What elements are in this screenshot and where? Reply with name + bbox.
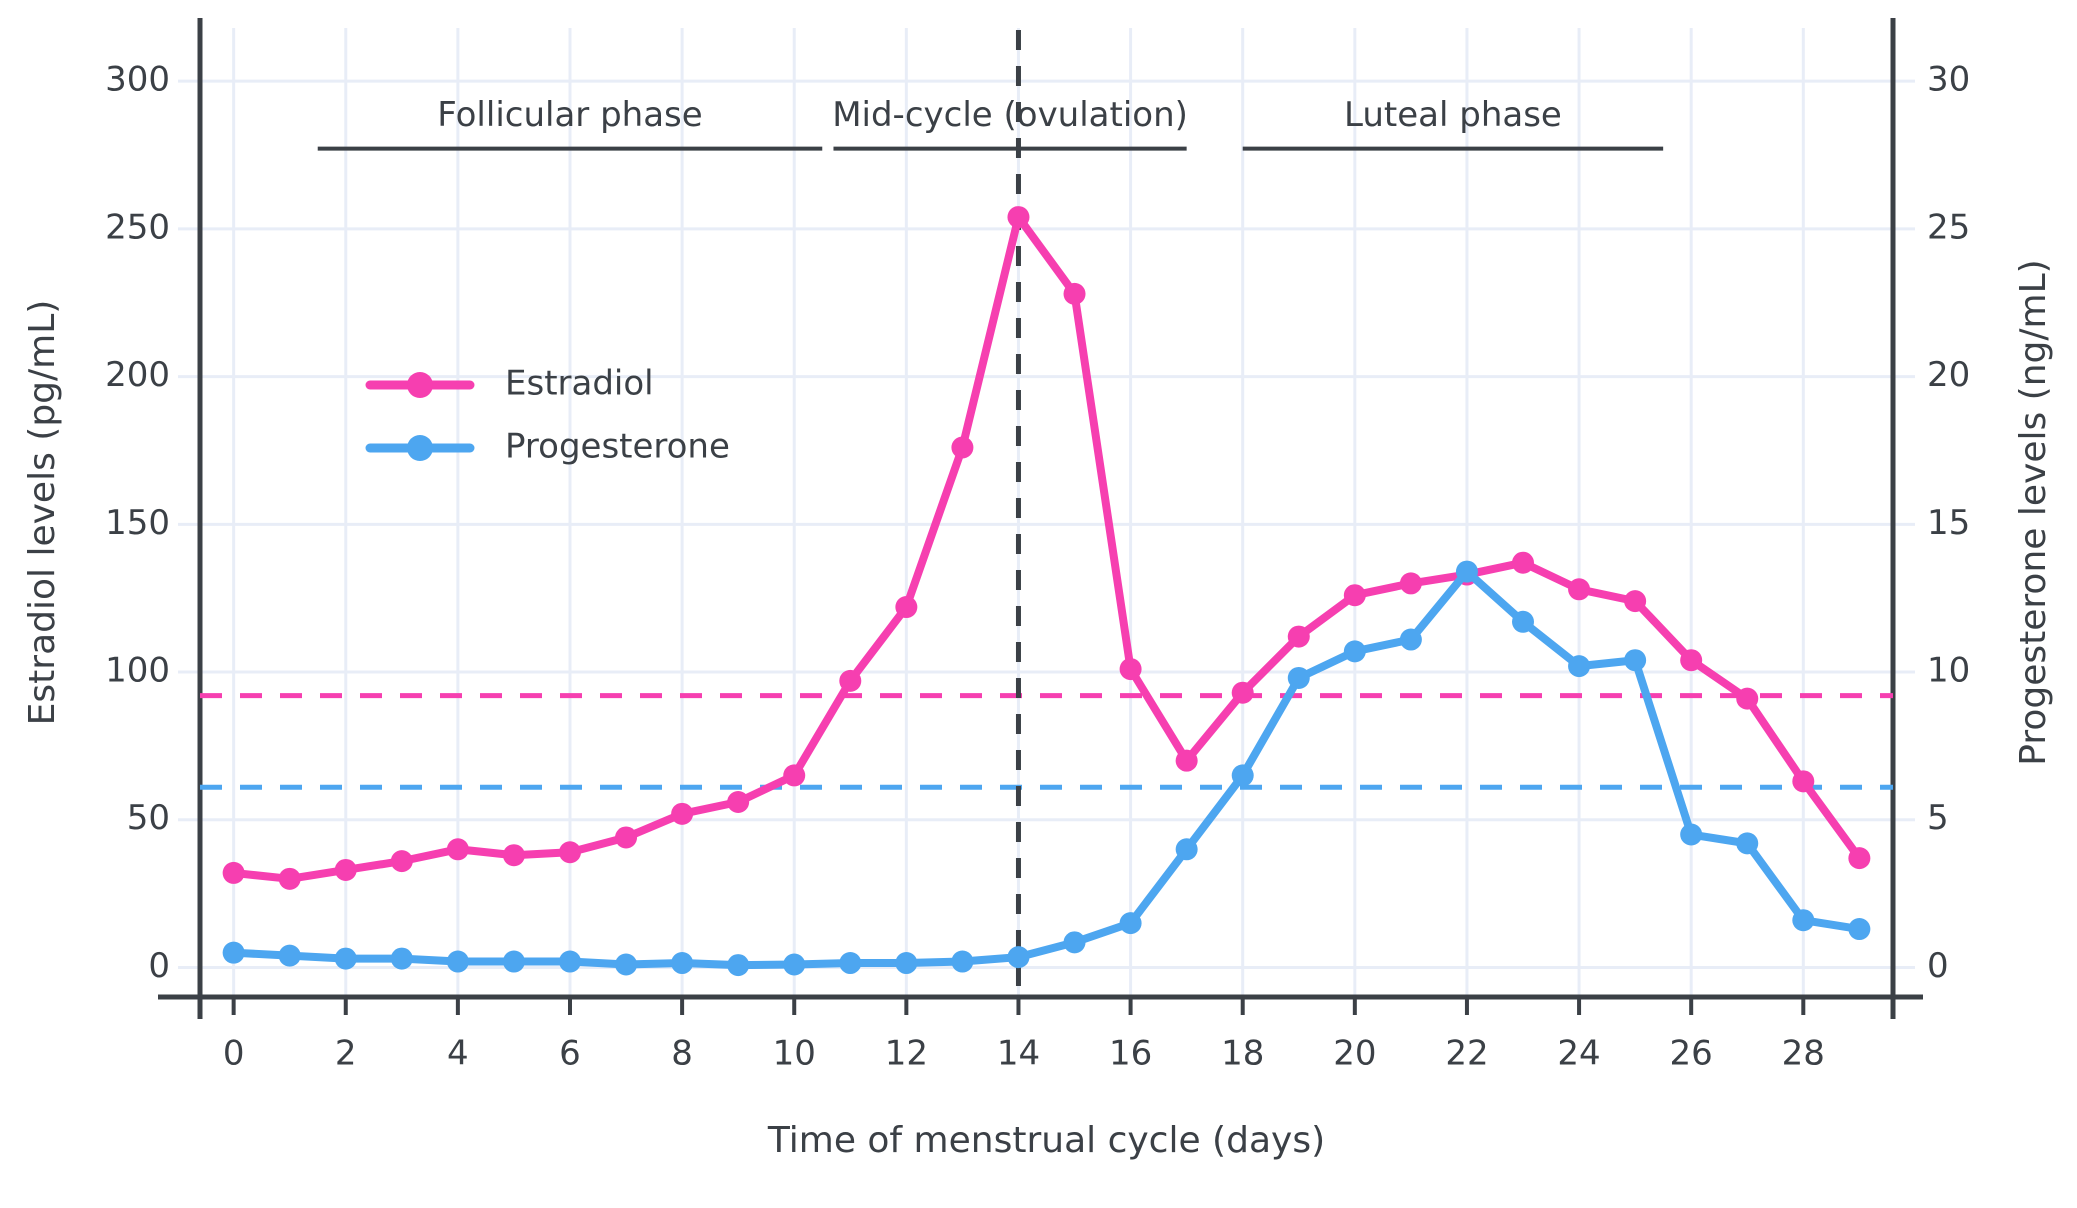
data-point-estradiol xyxy=(839,670,861,692)
y-tick-label-right: 0 xyxy=(1927,946,1949,986)
data-point-estradiol xyxy=(1064,283,1086,305)
series-line-estradiol xyxy=(234,217,1860,879)
data-point-estradiol xyxy=(559,841,581,863)
data-point-progesterone xyxy=(223,942,245,964)
data-point-estradiol xyxy=(1120,658,1142,680)
data-point-progesterone xyxy=(1792,909,1814,931)
phase-label-follicular-phase: Follicular phase xyxy=(437,95,702,135)
series-line-progesterone xyxy=(234,572,1860,966)
data-point-progesterone xyxy=(1344,640,1366,662)
data-point-estradiol xyxy=(615,826,637,848)
x-tick-label: 18 xyxy=(1221,1034,1264,1074)
data-point-estradiol xyxy=(1624,590,1646,612)
x-tick-label: 20 xyxy=(1333,1034,1376,1074)
x-tick-label: 4 xyxy=(447,1034,469,1074)
chart-figure: 0501001502002503000510152025300246810121… xyxy=(0,0,2077,1208)
data-point-estradiol xyxy=(1232,682,1254,704)
data-point-progesterone xyxy=(503,951,525,973)
phase-label-mid-cycle-ovulation: Mid-cycle (ovulation) xyxy=(832,95,1188,135)
y-tick-label-left: 200 xyxy=(105,355,170,395)
y-tick-label-right: 15 xyxy=(1927,503,1970,543)
data-point-estradiol xyxy=(1680,649,1702,671)
x-tick-label: 12 xyxy=(885,1034,928,1074)
data-point-progesterone xyxy=(1176,838,1198,860)
x-tick-label: 8 xyxy=(671,1034,693,1074)
data-point-estradiol xyxy=(1568,578,1590,600)
data-point-progesterone xyxy=(1288,667,1310,689)
data-point-estradiol xyxy=(895,596,917,618)
x-tick-label: 6 xyxy=(559,1034,581,1074)
phase-label-luteal-phase: Luteal phase xyxy=(1344,95,1562,135)
x-tick-label: 26 xyxy=(1670,1034,1713,1074)
y-tick-label-left: 150 xyxy=(105,503,170,543)
data-point-estradiol xyxy=(223,862,245,884)
x-tick-label: 2 xyxy=(335,1034,357,1074)
data-point-estradiol xyxy=(1176,750,1198,772)
y-tick-label-left: 0 xyxy=(148,946,170,986)
x-tick-label: 14 xyxy=(997,1034,1040,1074)
data-point-progesterone xyxy=(1736,832,1758,854)
x-tick-label: 24 xyxy=(1557,1034,1600,1074)
data-point-progesterone xyxy=(1456,561,1478,583)
legend-swatch-marker-estradiol xyxy=(407,372,433,398)
x-tick-label: 16 xyxy=(1109,1034,1152,1074)
data-point-progesterone xyxy=(391,948,413,970)
data-point-progesterone xyxy=(783,954,805,976)
y-tick-label-right: 25 xyxy=(1927,207,1970,247)
data-point-estradiol xyxy=(951,437,973,459)
data-point-progesterone xyxy=(335,948,357,970)
data-point-progesterone xyxy=(839,952,861,974)
data-point-progesterone xyxy=(1232,764,1254,786)
data-point-estradiol xyxy=(783,764,805,786)
data-point-progesterone xyxy=(1007,946,1029,968)
data-point-progesterone xyxy=(1400,629,1422,651)
x-tick-label: 0 xyxy=(223,1034,245,1074)
data-point-estradiol xyxy=(335,859,357,881)
data-point-progesterone xyxy=(1064,931,1086,953)
data-point-progesterone xyxy=(895,952,917,974)
data-point-estradiol xyxy=(1736,688,1758,710)
data-point-progesterone xyxy=(671,952,693,974)
data-point-estradiol xyxy=(1848,847,1870,869)
data-point-progesterone xyxy=(1624,649,1646,671)
data-point-progesterone xyxy=(1512,611,1534,633)
data-point-progesterone xyxy=(559,951,581,973)
hormone-cycle-line-chart: 0501001502002503000510152025300246810121… xyxy=(0,0,2077,1208)
x-tick-label: 22 xyxy=(1445,1034,1488,1074)
legend-label-progesterone: Progesterone xyxy=(505,427,730,467)
data-point-estradiol xyxy=(279,868,301,890)
data-point-estradiol xyxy=(727,791,749,813)
data-point-progesterone xyxy=(615,954,637,976)
y-tick-label-left: 100 xyxy=(105,651,170,691)
y-tick-label-left: 50 xyxy=(127,798,170,838)
y-tick-label-right: 30 xyxy=(1927,60,1970,100)
y-tick-label-right: 20 xyxy=(1927,355,1970,395)
data-point-estradiol xyxy=(671,803,693,825)
y-tick-label-left: 250 xyxy=(105,207,170,247)
legend-label-estradiol: Estradiol xyxy=(505,364,654,404)
data-point-estradiol xyxy=(1344,584,1366,606)
legend-swatch-marker-progesterone xyxy=(407,435,433,461)
data-point-estradiol xyxy=(1400,572,1422,594)
data-point-progesterone xyxy=(727,954,749,976)
data-point-estradiol xyxy=(1792,770,1814,792)
data-point-estradiol xyxy=(1288,626,1310,648)
x-tick-label: 28 xyxy=(1782,1034,1825,1074)
x-axis-title: Time of menstrual cycle (days) xyxy=(767,1120,1325,1161)
y-tick-label-left: 300 xyxy=(105,60,170,100)
y-axis-title-left: Estradiol levels (pg/mL) xyxy=(22,300,63,726)
y-tick-label-right: 5 xyxy=(1927,798,1949,838)
data-point-progesterone xyxy=(1120,912,1142,934)
data-point-progesterone xyxy=(279,945,301,967)
data-point-estradiol xyxy=(1512,552,1534,574)
data-point-estradiol xyxy=(391,850,413,872)
data-point-progesterone xyxy=(951,951,973,973)
data-point-estradiol xyxy=(503,844,525,866)
data-point-progesterone xyxy=(1848,918,1870,940)
data-point-progesterone xyxy=(1680,824,1702,846)
grid-lines xyxy=(178,28,1915,1015)
data-point-progesterone xyxy=(447,951,469,973)
data-point-progesterone xyxy=(1568,655,1590,677)
y-axis-title-right: Progesterone levels (ng/mL) xyxy=(2013,259,2054,765)
data-point-estradiol xyxy=(447,838,469,860)
x-tick-label: 10 xyxy=(773,1034,816,1074)
data-point-estradiol xyxy=(1007,206,1029,228)
y-tick-label-right: 10 xyxy=(1927,651,1970,691)
